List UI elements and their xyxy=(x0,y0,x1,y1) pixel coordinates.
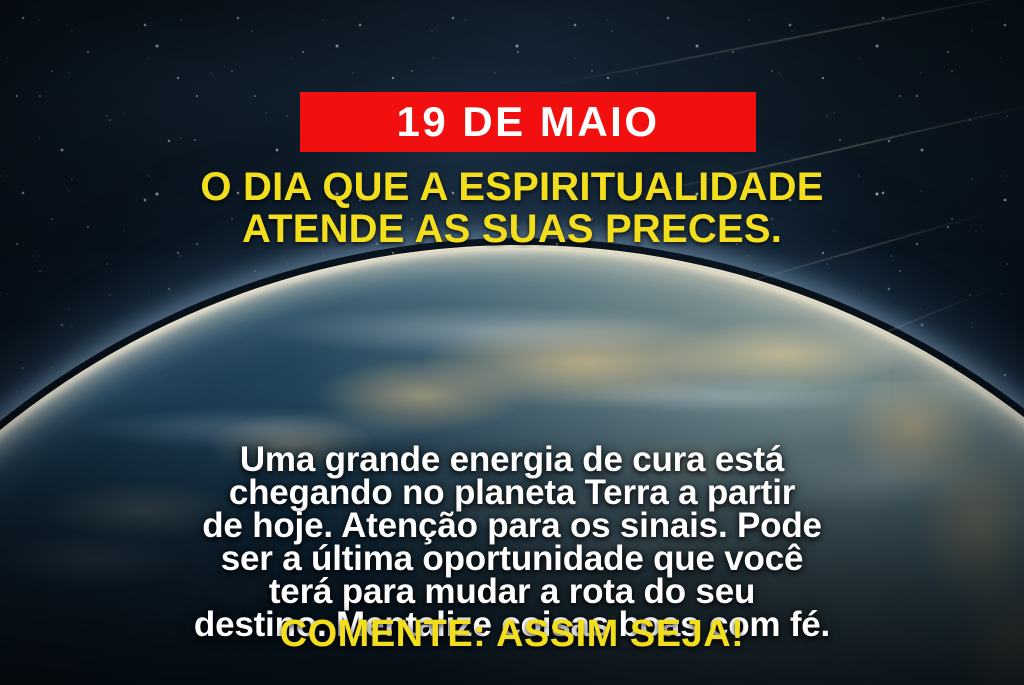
body-line-4: ser a última oportunidade que você xyxy=(52,542,972,575)
headline-line-2: ATENDE AS SUAS PRECES. xyxy=(30,208,994,250)
date-banner-label: 19 DE MAIO xyxy=(396,101,659,143)
headline-line-1: O DIA QUE A ESPIRITUALIDADE xyxy=(30,166,994,208)
body-copy: Uma grande energia de cura está chegando… xyxy=(0,443,1024,641)
content-layer: 19 DE MAIO O DIA QUE A ESPIRITUALIDADE A… xyxy=(0,0,1024,685)
call-to-action-label: COMENTE: ASSIM SEJA! xyxy=(280,613,745,655)
poster-canvas: 19 DE MAIO O DIA QUE A ESPIRITUALIDADE A… xyxy=(0,0,1024,685)
call-to-action: COMENTE: ASSIM SEJA! xyxy=(0,613,1024,655)
body-line-5: terá para mudar a rota do seu xyxy=(52,575,972,608)
body-line-1: Uma grande energia de cura está xyxy=(52,443,972,476)
headline: O DIA QUE A ESPIRITUALIDADE ATENDE AS SU… xyxy=(0,166,1024,250)
body-line-2: chegando no planeta Terra a partir xyxy=(52,476,972,509)
date-banner: 19 DE MAIO xyxy=(300,92,756,152)
body-line-3: de hoje. Atenção para os sinais. Pode xyxy=(52,509,972,542)
